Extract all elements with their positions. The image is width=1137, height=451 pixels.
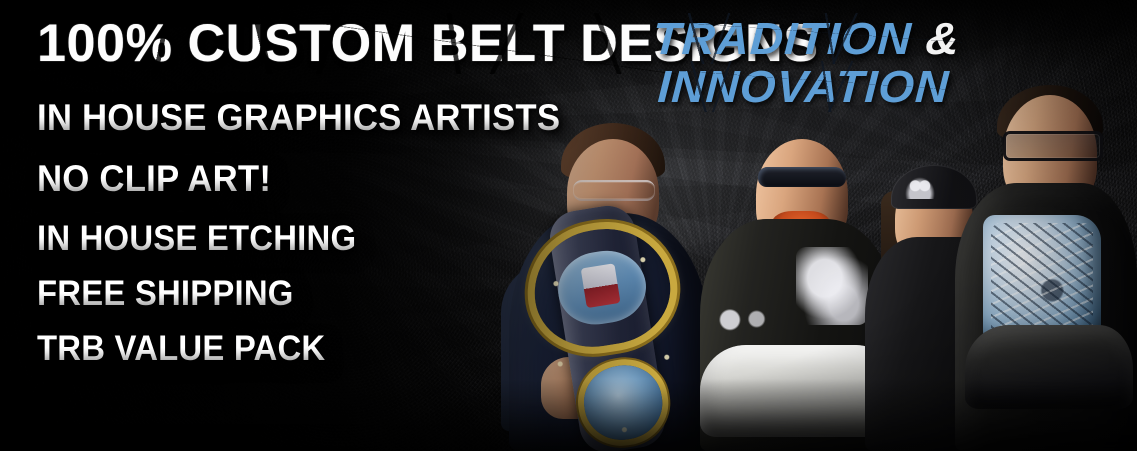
bullet-in-house-etching: IN HOUSE ETCHING: [37, 221, 356, 256]
tagline-line-2: INNOVATION: [657, 64, 951, 109]
tagline-tradition-text: TRADITION: [651, 13, 913, 64]
promo-banner: 100% CUSTOM BELT DESIGNS IN HOUSE GRAPHI…: [0, 0, 1137, 451]
bullet-free-shipping: FREE SHIPPING: [37, 276, 294, 311]
bullet-in-house-graphics-artists: IN HOUSE GRAPHICS ARTISTS: [37, 99, 560, 136]
tagline-ampersand: &: [911, 13, 962, 64]
bullet-no-clip-art: NO CLIP ART!: [37, 160, 271, 197]
tagline-line-1: TRADITION &: [652, 16, 961, 61]
tagline-innovation-text: INNOVATION: [656, 61, 950, 112]
bullet-trb-value-pack: TRB VALUE PACK: [37, 331, 325, 366]
